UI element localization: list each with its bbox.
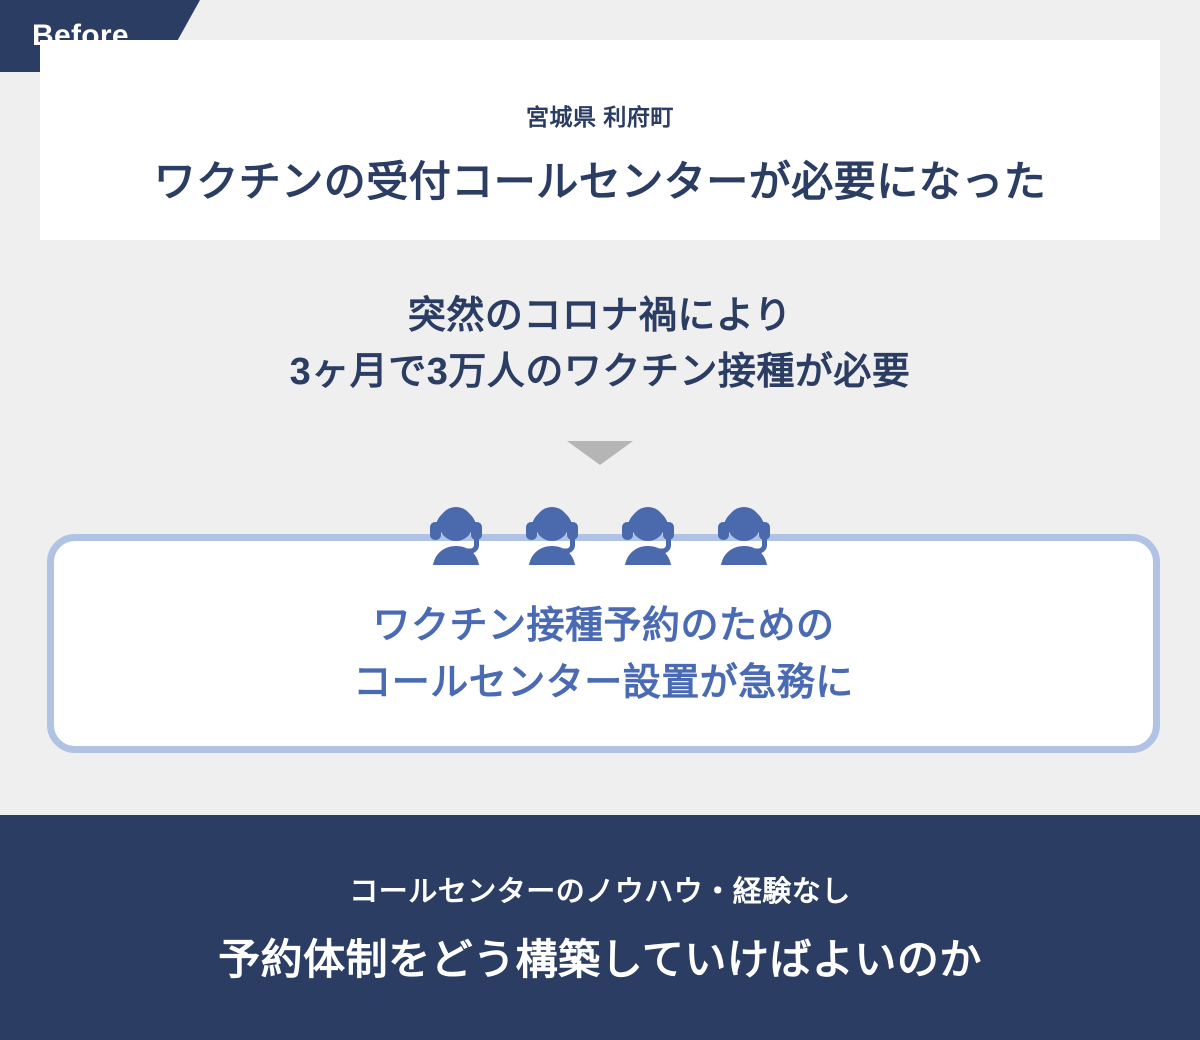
header-card: 宮城県 利府町 ワクチンの受付コールセンターが必要になった <box>40 40 1160 240</box>
footer-title: 予約体制をどう構築していけばよいのか <box>218 926 982 987</box>
header-title: ワクチンの受付コールセンターが必要になった <box>154 148 1047 209</box>
down-triangle-icon <box>567 441 633 465</box>
urgency-line-2: コールセンター設置が急務に <box>353 655 854 711</box>
infographic-before-slide: Before 宮城県 利府町 ワクチンの受付コールセンターが必要になった 突然の… <box>0 0 1200 1040</box>
headset-operator-icon <box>422 500 490 568</box>
lead-line-1: 突然のコロナ禍により <box>0 288 1200 344</box>
operator-icon-row <box>0 498 1200 568</box>
footer-subtitle: コールセンターのノウハウ・経験なし <box>349 868 851 910</box>
lead-statement: 突然のコロナ禍により 3ヶ月で3万人のワクチン接種が必要 <box>0 288 1200 400</box>
headset-operator-icon <box>518 500 586 568</box>
headset-operator-icon <box>710 500 778 568</box>
headset-operator-icon <box>614 500 682 568</box>
footer-band: コールセンターのノウハウ・経験なし 予約体制をどう構築していけばよいのか <box>0 815 1200 1040</box>
lead-line-2: 3ヶ月で3万人のワクチン接種が必要 <box>0 344 1200 400</box>
urgency-line-1: ワクチン接種予約のための <box>353 598 854 654</box>
urgency-callout-text: ワクチン接種予約のための コールセンター設置が急務に <box>353 598 854 710</box>
header-subtitle: 宮城県 利府町 <box>526 98 674 132</box>
